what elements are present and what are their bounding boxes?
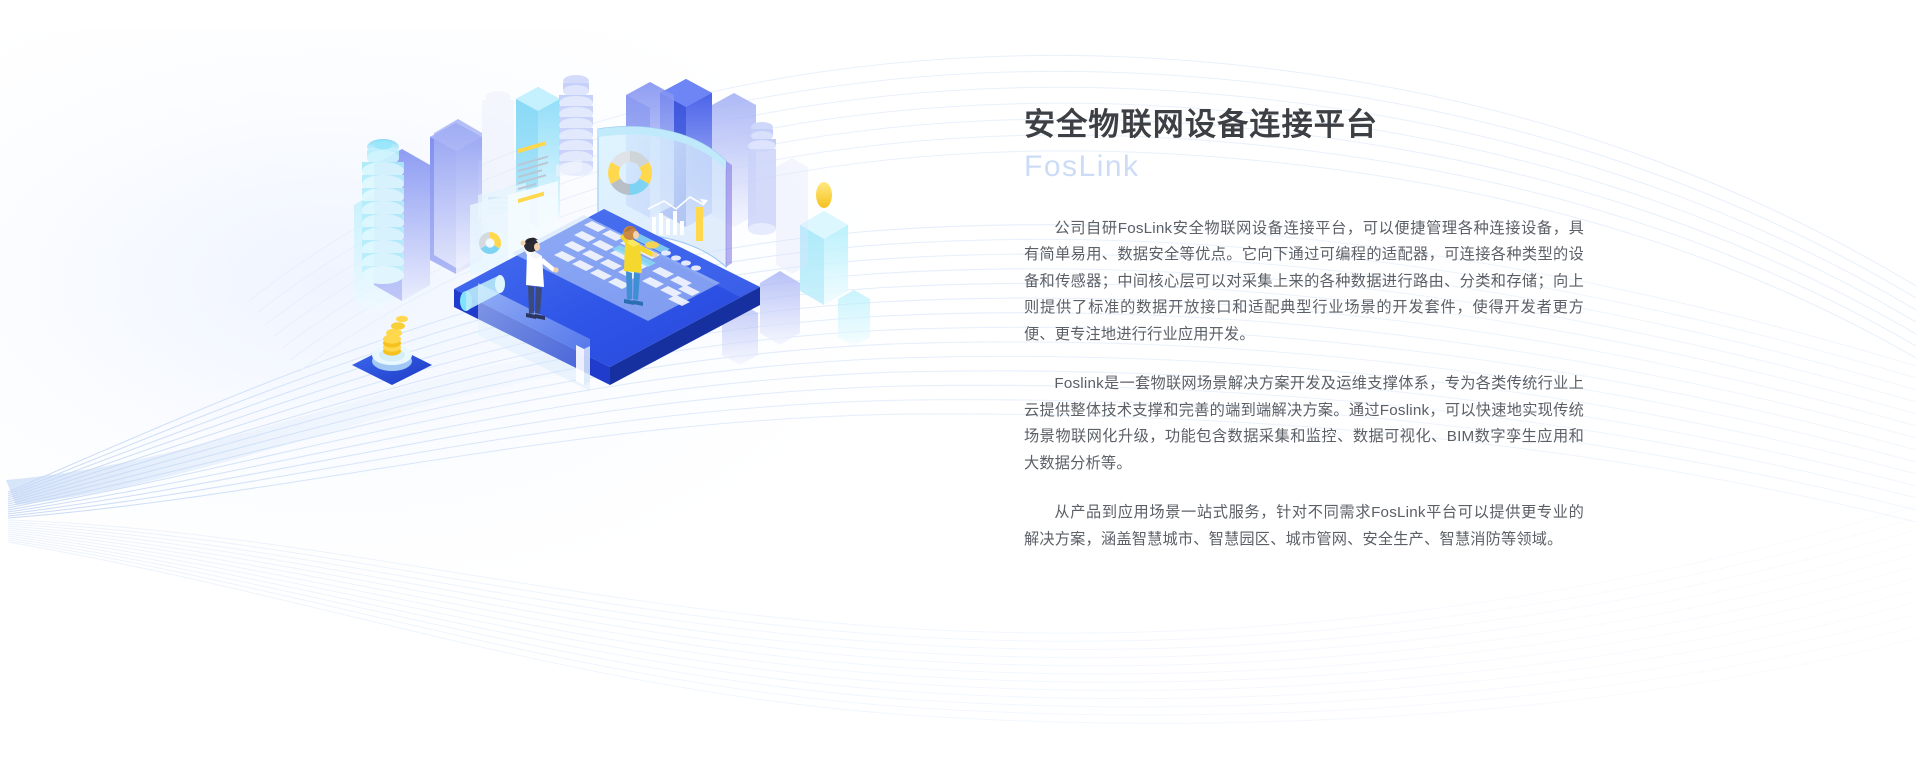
hero-banner-page: 安全物联网设备连接平台 FosLink 公司自研FosLink安全物联网设备连接…	[0, 0, 1920, 760]
description-block: 公司自研FosLink安全物联网设备连接平台，可以便捷管理各种连接设备，具有简单…	[1024, 216, 1584, 554]
building-cyan-bottom-right	[838, 290, 870, 346]
page-title: 安全物联网设备连接平台	[1024, 106, 1584, 145]
coin-stack-pedestal	[352, 316, 432, 385]
building-violet-far-right	[760, 271, 800, 345]
paragraph-1: 公司自研FosLink安全物联网设备连接平台，可以便捷管理各种连接设备，具有简单…	[1024, 216, 1584, 349]
gold-coin-right	[816, 182, 832, 208]
hero-text-column: 安全物联网设备连接平台 FosLink 公司自研FosLink安全物联网设备连接…	[1024, 106, 1584, 553]
background-wave-ribbon	[0, 0, 1920, 760]
building-ghost-right	[776, 158, 808, 274]
product-name-subtitle: FosLink	[1024, 147, 1584, 186]
iot-platform-illustration	[330, 55, 890, 395]
paragraph-3: 从产品到应用场景一站式服务，针对不同需求FosLink平台可以提供更专业的解决方…	[1024, 500, 1584, 553]
gold-indicator-dot	[645, 241, 659, 248]
paragraph-2: Foslink是一套物联网场景解决方案开发及运维支撑体系，专为各类传统行业上云提…	[1024, 371, 1584, 477]
donut-chart-small	[479, 232, 501, 254]
building-pagoda-cyan	[362, 139, 404, 284]
